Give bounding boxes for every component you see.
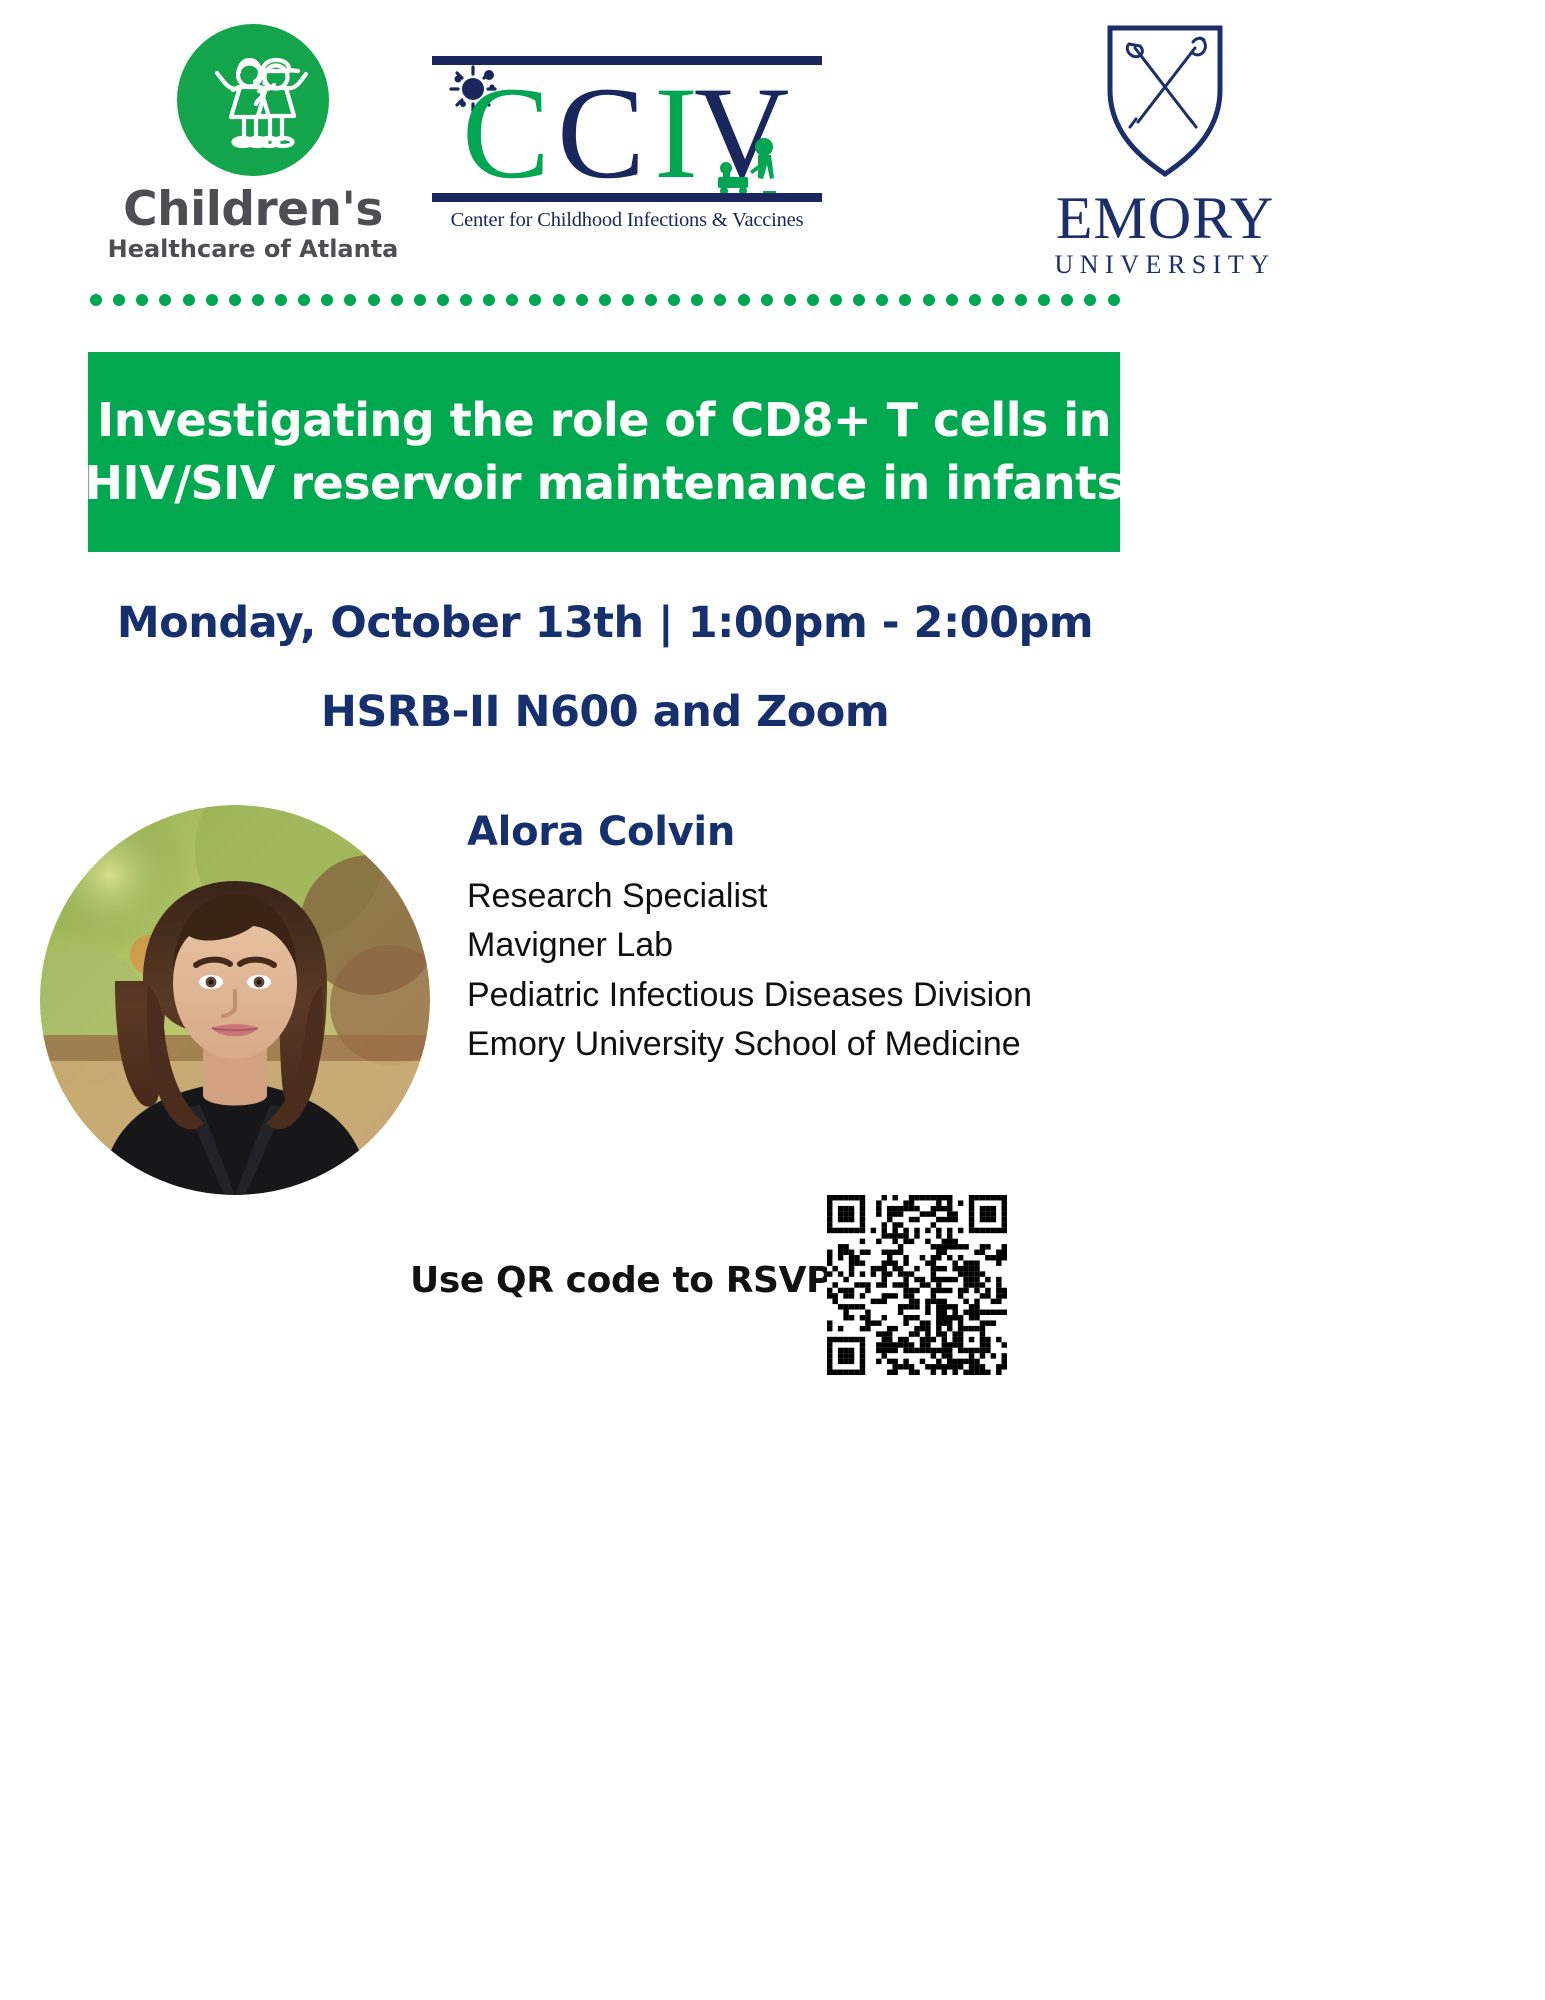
logo-cciv-tagline: Center for Childhood Infections & Vaccin… [432,209,822,232]
speaker-affiliation-line-3: Pediatric Infectious Diseases Division [467,971,1167,1020]
divider-dot [506,294,518,306]
logo-emory-name: EMORY [915,188,1415,248]
divider-dot [622,294,634,306]
speaker-info: Alora Colvin Research Specialist Mavigne… [467,810,1167,1069]
rsvp-label: Use QR code to RSVP: [410,1260,846,1301]
emory-shield-torches-icon [1100,22,1230,180]
divider-dot [437,294,449,306]
divider-dot [969,294,981,306]
event-location: HSRB-II N600 and Zoom [0,689,1210,736]
divider-dot [321,294,333,306]
divider-dot [113,294,125,306]
svg-text:C: C [462,65,550,193]
divider-dot [1108,294,1120,306]
svg-text:V: V [694,65,789,193]
divider-dot [1038,294,1050,306]
divider-dot [298,294,310,306]
divider-dot [599,294,611,306]
divider-dot [414,294,426,306]
header-logos: Children's Healthcare of Atlanta C [0,0,1545,300]
rsvp-section: Use QR code to RSVP: [0,1195,1545,1455]
divider-dot [668,294,680,306]
divider-dot [206,294,218,306]
divider-dot [738,294,750,306]
speaker-affiliation-line-4: Emory University School of Medicine [467,1020,1167,1069]
divider-dot [136,294,148,306]
divider-dot [183,294,195,306]
divider-dot [923,294,935,306]
divider-dot [899,294,911,306]
divider-dot [761,294,773,306]
divider-dot [691,294,703,306]
logo-childrens-subtitle: Healthcare of Atlanta [88,237,418,261]
dotted-divider [90,293,1120,307]
divider-dot [946,294,958,306]
divider-dot [1084,294,1096,306]
cciv-bottom-rule [432,193,822,202]
speaker-name: Alora Colvin [467,810,1167,854]
speaker-headshot-photo [40,805,430,1195]
divider-dot [807,294,819,306]
divider-dot [344,294,356,306]
divider-dot [830,294,842,306]
event-details: Monday, October 13th | 1:00pm - 2:00pm H… [0,600,1210,737]
speaker-affiliation-line-2: Mavigner Lab [467,921,1167,970]
two-children-circle-icon [177,24,329,176]
title-line-1: Investigating the role of CD8+ T cells i… [97,389,1111,452]
speaker-affiliation: Research Specialist Mavigner Lab Pediatr… [467,872,1167,1069]
divider-dot [1061,294,1073,306]
divider-dot [252,294,264,306]
logo-childrens-name: Children's [88,186,418,233]
title-line-2: HIV/SIV reservoir maintenance in infants [85,452,1124,515]
title-banner: Investigating the role of CD8+ T cells i… [88,352,1120,552]
logo-cciv: C C I V [432,56,822,232]
divider-dot [529,294,541,306]
divider-dot [483,294,495,306]
divider-dot [460,294,472,306]
logo-childrens-healthcare-of-atlanta: Children's Healthcare of Atlanta [88,24,418,261]
cciv-wordmark-icon: C C I V [432,65,822,193]
divider-dot [645,294,657,306]
divider-dot [229,294,241,306]
svg-text:C: C [557,65,645,193]
divider-dot [159,294,171,306]
divider-dot [876,294,888,306]
divider-dot [391,294,403,306]
divider-dot [714,294,726,306]
divider-dot [1015,294,1027,306]
divider-dot [90,294,102,306]
divider-dot [275,294,287,306]
divider-dot [368,294,380,306]
svg-text:I: I [654,65,698,193]
divider-dot [992,294,1004,306]
divider-dot [784,294,796,306]
qr-code[interactable] [827,1195,1007,1375]
logo-emory-university: EMORY UNIVERSITY [915,22,1415,278]
event-datetime: Monday, October 13th | 1:00pm - 2:00pm [0,600,1210,647]
divider-dot [553,294,565,306]
logo-emory-subtitle: UNIVERSITY [915,252,1415,278]
divider-dot [576,294,588,306]
divider-dot [853,294,865,306]
speaker-affiliation-line-1: Research Specialist [467,872,1167,921]
cciv-top-rule [432,56,822,65]
speaker-section: Alora Colvin Research Specialist Mavigne… [0,800,1545,1220]
